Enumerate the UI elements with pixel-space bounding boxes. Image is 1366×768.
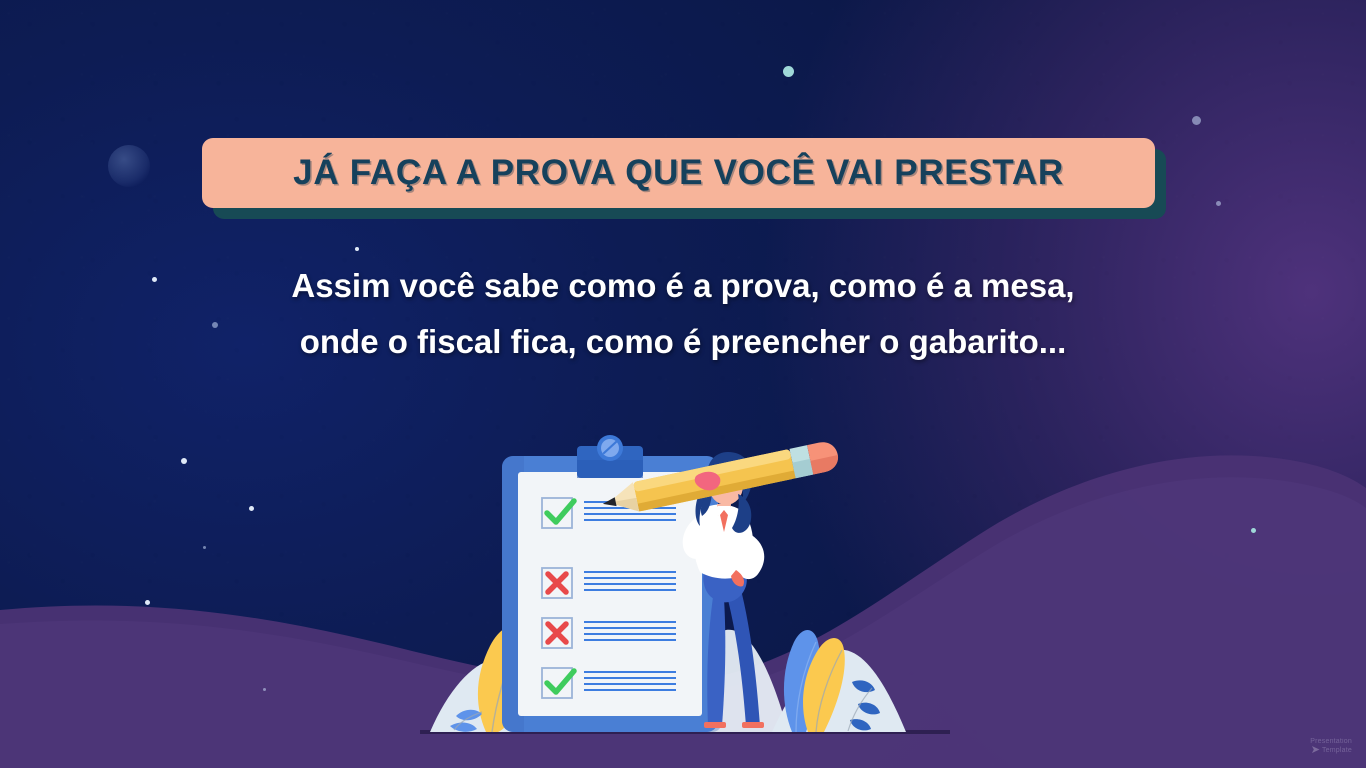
decorative-star bbox=[263, 688, 266, 691]
decorative-star bbox=[145, 600, 150, 605]
decorative-star bbox=[249, 506, 254, 511]
decorative-star bbox=[1192, 116, 1201, 125]
decorative-star bbox=[181, 458, 187, 464]
decorative-star bbox=[203, 546, 206, 549]
decorative-star bbox=[1216, 201, 1221, 206]
subtitle-line-2: onde o fiscal fica, como é preencher o g… bbox=[0, 314, 1366, 370]
decorative-star bbox=[783, 66, 794, 77]
title-banner-card: JÁ FAÇA A PROVA QUE VOCÊ VAI PRESTAR bbox=[202, 138, 1155, 208]
subtitle-line-1: Assim você sabe como é a prova, como é a… bbox=[0, 258, 1366, 314]
title-banner: JÁ FAÇA A PROVA QUE VOCÊ VAI PRESTAR bbox=[202, 138, 1155, 208]
page-title: JÁ FAÇA A PROVA QUE VOCÊ VAI PRESTAR bbox=[293, 153, 1064, 193]
subtitle-block: Assim você sabe como é a prova, como é a… bbox=[0, 258, 1366, 370]
decorative-orb bbox=[108, 145, 150, 187]
decorative-star bbox=[1251, 528, 1256, 533]
presentation-slide: JÁ FAÇA A PROVA QUE VOCÊ VAI PRESTAR Ass… bbox=[0, 0, 1366, 768]
checklist-illustration bbox=[420, 420, 950, 750]
decorative-star bbox=[355, 247, 359, 251]
